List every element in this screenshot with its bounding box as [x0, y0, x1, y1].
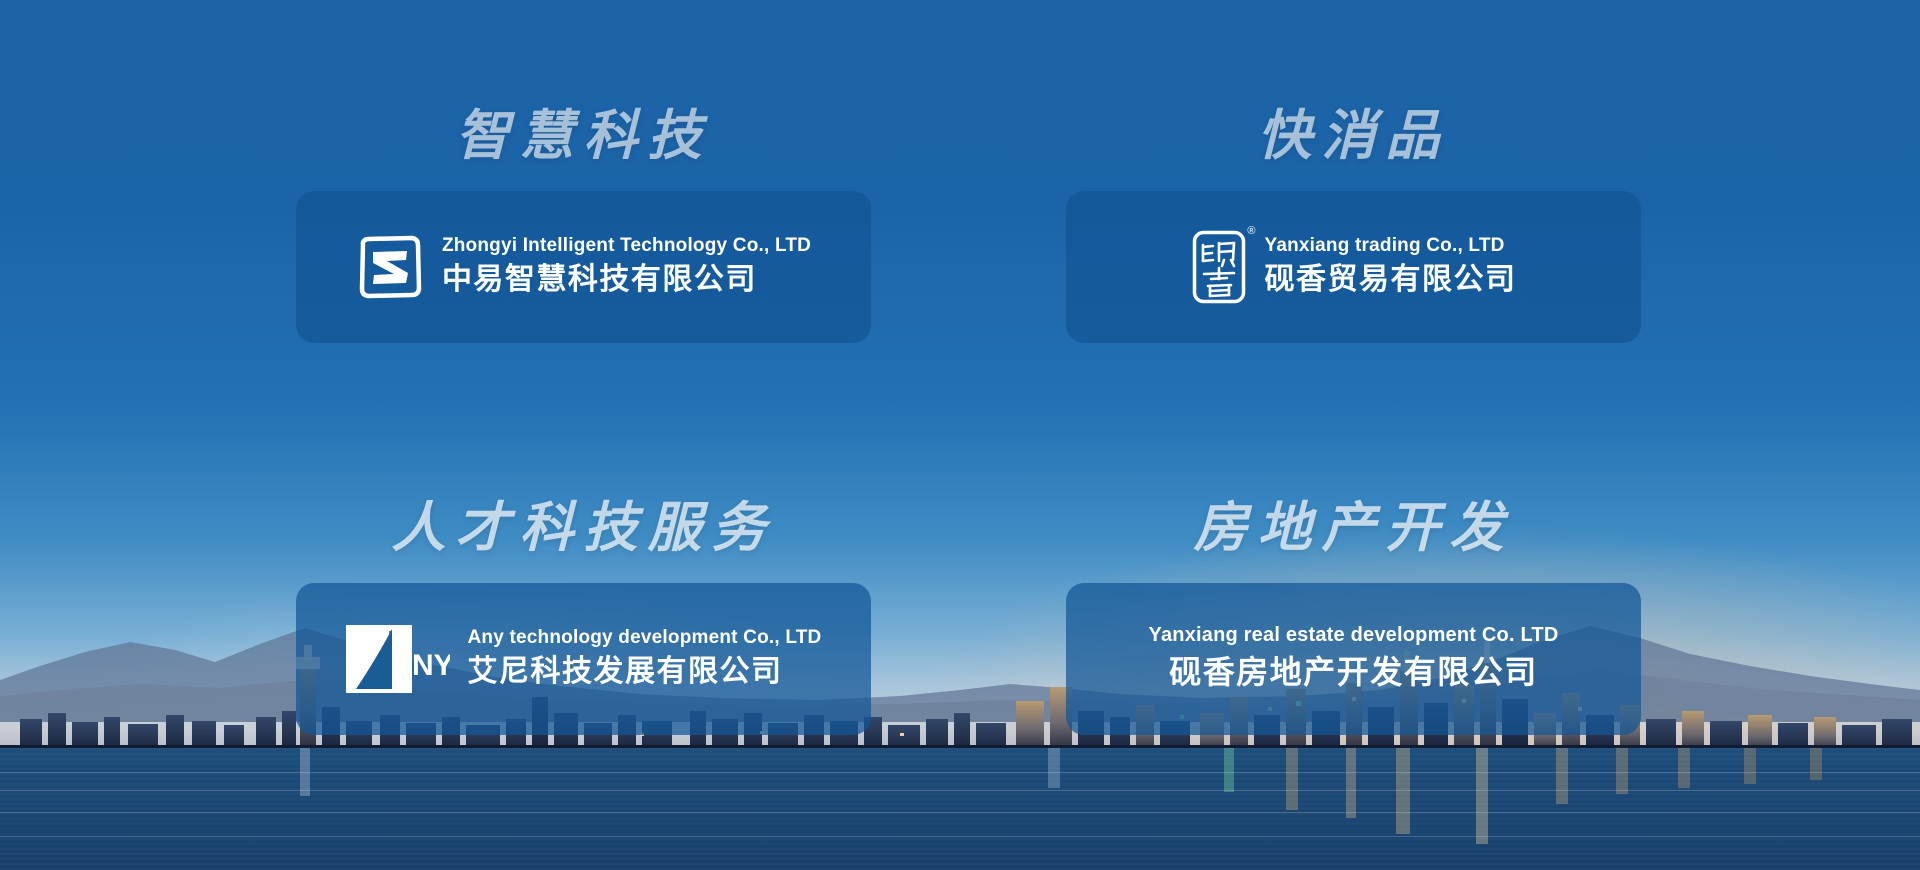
company-name-en: Yanxiang real estate development Co. LTD	[1149, 623, 1559, 648]
company-name-cn: 中易智慧科技有限公司	[442, 260, 811, 299]
any-mountain-logo: NY	[346, 623, 450, 695]
registered-trademark-icon: ®	[1247, 226, 1255, 237]
company-name-cn: 艾尼科技发展有限公司	[468, 652, 822, 691]
company-names-yanxiang-real-estate: Yanxiang real estate development Co. LTD…	[1149, 623, 1559, 694]
segment-real-estate: 房地产开发 Yanxiang real estate development C…	[1066, 500, 1641, 735]
company-card-zhongyi[interactable]: Zhongyi Intelligent Technology Co., LTD …	[296, 191, 871, 343]
company-name-cn: 砚香贸易有限公司	[1265, 260, 1517, 299]
zhongyi-z-seal-logo	[356, 233, 424, 301]
company-name-en: Zhongyi Intelligent Technology Co., LTD	[442, 234, 811, 258]
company-names-zhongyi: Zhongyi Intelligent Technology Co., LTD …	[442, 234, 811, 299]
section-title-real-estate: 房地产开发	[1066, 500, 1641, 557]
company-names-yanxiang-trading: Yanxiang trading Co., LTD 砚香贸易有限公司	[1265, 234, 1517, 299]
section-title-fmcg: 快消品	[1066, 108, 1641, 165]
company-card-yanxiang-real-estate[interactable]: Yanxiang real estate development Co. LTD…	[1066, 583, 1641, 735]
company-name-en: Yanxiang trading Co., LTD	[1265, 234, 1517, 258]
section-title-talent-services: 人才科技服务	[296, 500, 871, 557]
company-names-any: Any technology development Co., LTD 艾尼科技…	[468, 626, 822, 691]
hero-banner: 智慧科技 Zhongyi Intelligent Technology Co.,…	[0, 0, 1920, 870]
company-name-cn: 砚香房地产开发有限公司	[1169, 652, 1538, 694]
section-title-smart-technology: 智慧科技	[296, 108, 871, 165]
company-card-yanxiang-trading[interactable]: ® Yanxiang trading Co., LTD 砚香贸易有限公司	[1066, 191, 1641, 343]
segment-fmcg: 快消品	[1066, 108, 1641, 343]
svg-text:NY: NY	[412, 649, 450, 682]
segments-grid: 智慧科技 Zhongyi Intelligent Technology Co.,…	[0, 0, 1920, 870]
segment-smart-technology: 智慧科技 Zhongyi Intelligent Technology Co.,…	[296, 108, 871, 343]
yanxiang-seal-logo: ®	[1191, 229, 1247, 305]
segment-talent-services: 人才科技服务 NY Any technology development Co	[296, 500, 871, 735]
company-card-any[interactable]: NY Any technology development Co., LTD 艾…	[296, 583, 871, 735]
company-name-en: Any technology development Co., LTD	[468, 626, 822, 650]
